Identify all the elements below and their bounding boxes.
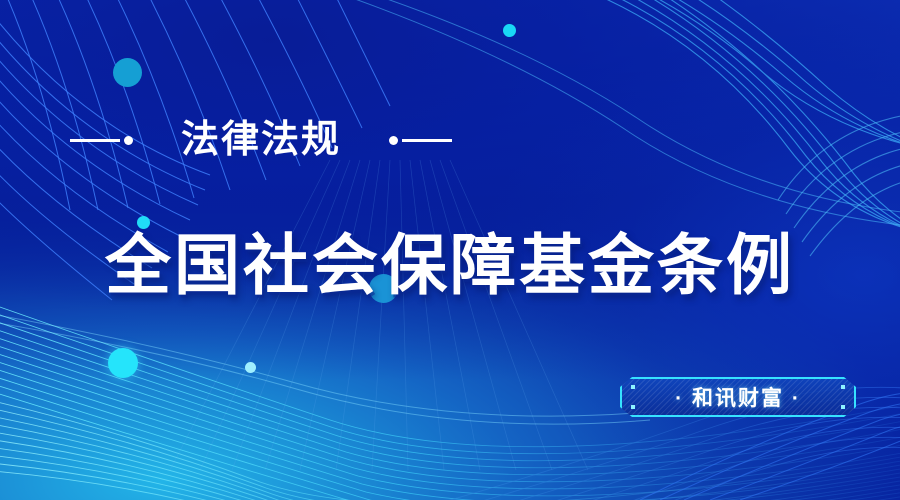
badge-label: · 和讯财富 ·: [620, 377, 856, 417]
dot-line-ornament-right-icon: [389, 136, 452, 145]
page-title: 全国社会保障基金条例: [0, 232, 900, 298]
ornament-dot: [124, 136, 133, 145]
legal-regulation-banner: 法律法规 全国社会保障基金条例 · 和讯财富 ·: [0, 0, 900, 500]
subtitle-text: 法律法规: [181, 121, 341, 159]
subtitle-row: 法律法规: [70, 112, 452, 168]
ornament-line: [70, 139, 120, 142]
decorative-dot-large-cyan: [108, 348, 138, 378]
ornament-line: [402, 139, 452, 142]
ornament-dot: [389, 136, 398, 145]
source-badge: · 和讯财富 ·: [620, 377, 856, 417]
line-dot-ornament-left-icon: [70, 136, 133, 145]
decorative-dot-teal-topleft: [113, 58, 142, 87]
decorative-dot-cyan-top: [503, 24, 516, 37]
decorative-dot-small-white: [245, 362, 256, 373]
